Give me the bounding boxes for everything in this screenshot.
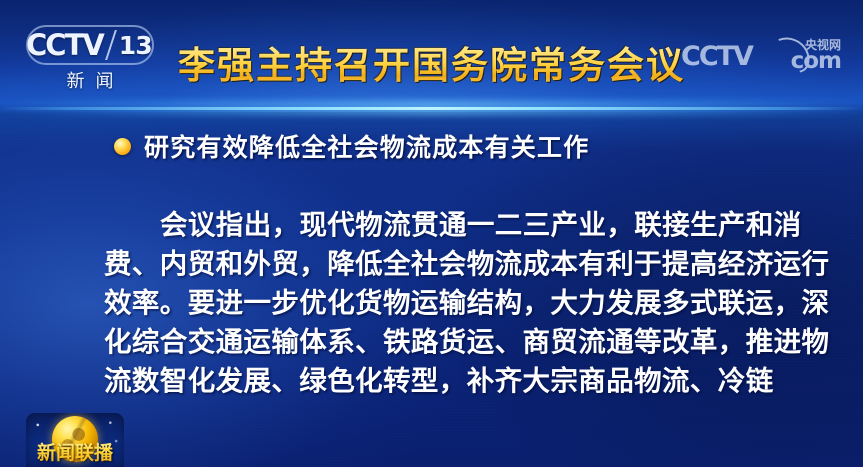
- xinwen-lianbo-program-logo: 新闻联播: [26, 413, 124, 467]
- news-broadcast-screen: CCTV 13 新闻 CCTV 央视网 com 李强主持召开国务院常务会议 研究…: [0, 0, 863, 467]
- body-line: 会议指出，现代物流贯通一二三产业，联接生产和消: [104, 206, 804, 245]
- body-line: 费、内贸和外贸，降低全社会物流成本有利于提高经济运行: [104, 245, 804, 284]
- headline: 李强主持召开国务院常务会议: [0, 45, 863, 88]
- body-line: 效率。要进一步优化货物运输结构，大力发展多式联运，深: [104, 284, 804, 323]
- subheadline-row: 研究有效降低全社会物流成本有关工作: [114, 128, 589, 164]
- subheadline-text: 研究有效降低全社会物流成本有关工作: [144, 128, 589, 164]
- body-line: 化综合交通运输体系、铁路货运、商贸流通等改革，推进物: [104, 323, 804, 362]
- body-line: 流数智化发展、绿色化转型，补齐大宗商品物流、冷链: [104, 362, 804, 401]
- program-name-label: 新闻联播: [26, 438, 124, 465]
- body-paragraph: 会议指出，现代物流贯通一二三产业，联接生产和消 费、内贸和外贸，降低全社会物流成…: [104, 206, 804, 401]
- gold-dot-icon: [114, 138, 131, 155]
